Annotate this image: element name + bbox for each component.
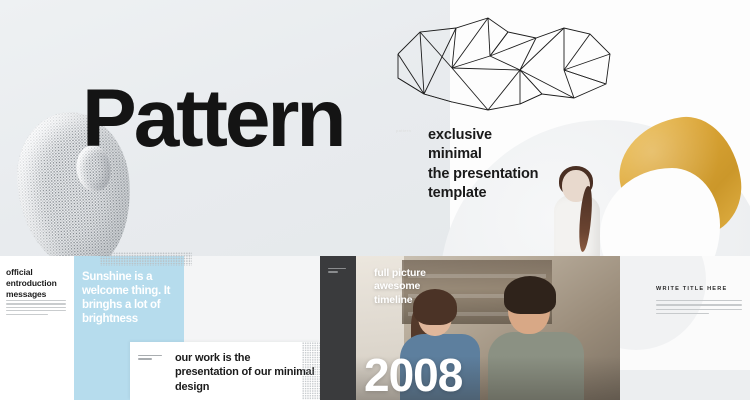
slide-our-work-heading: our work is the presentation of our mini… [175,351,315,394]
timeline-heading: full picture awesome timeline [374,267,494,307]
write-title-heading: WRITE TITLE HERE [656,286,727,292]
timeline-year: 2008 [364,352,462,398]
polygon-mesh-icon [378,0,628,128]
halftone-dots-decor [100,252,192,266]
page-title: Pattern [82,78,344,160]
hero-subtitle-line-2: minimal [428,145,538,164]
title-watermark: pattern [396,128,411,133]
halftone-edge-decor [302,342,320,400]
write-title-footer-band [620,370,750,400]
slide-sunshine-quote: Sunshine is a welcome thing. It bringhs … [82,270,182,326]
hero-subtitle-line-4: template [428,184,538,203]
timeline-tag [328,268,346,275]
timeline-heading-line-2: awesome [374,280,494,293]
hero-section: Pattern pattern exclusive minimal the pr… [0,0,750,256]
slide-thumb-write-title[interactable]: WRITE TITLE HERE [620,256,750,400]
slide-intro-heading: official entroduction messages [6,267,70,301]
hero-subtitle-line-3: the presentation [428,165,538,184]
woman-photo [540,160,636,256]
slide-intro-body-placeholder [6,300,66,317]
write-title-body-placeholder [656,300,742,318]
hero-subtitle-line-1: exclusive [428,126,538,145]
slide-our-work-tag [138,355,162,362]
slide-thumb-our-work[interactable]: our work is the presentation of our mini… [130,342,320,400]
woman-body [554,194,600,256]
hero-subtitle: exclusive minimal the presentation templ… [428,126,538,203]
timeline-heading-line-1: full picture [374,267,494,280]
slide-thumb-intro[interactable]: official entroduction messages [0,256,74,400]
preview-canvas: Pattern pattern exclusive minimal the pr… [0,0,750,400]
timeline-dark-rail [320,256,356,400]
photo-man-hair [504,276,556,314]
slide-thumb-timeline[interactable]: full picture awesome timeline 2008 [320,256,620,400]
slide-strip: official entroduction messages Sunshine … [0,256,750,400]
timeline-heading-line-3: timeline [374,294,494,307]
